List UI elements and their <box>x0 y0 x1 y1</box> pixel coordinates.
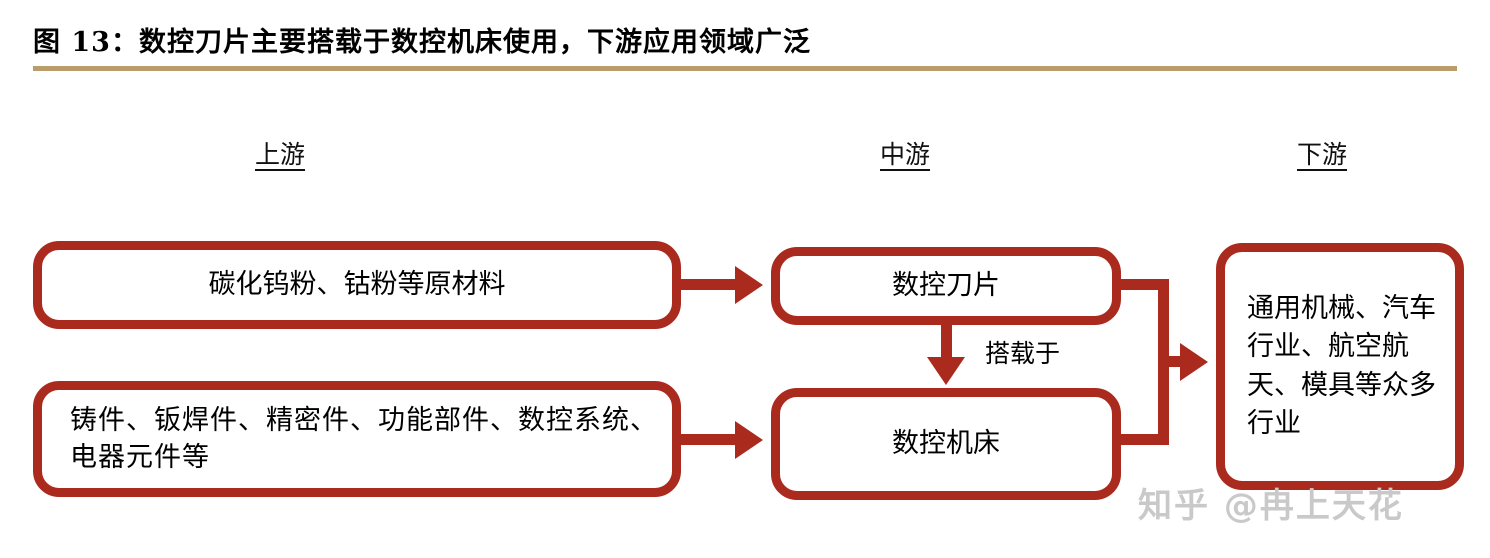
arrow-right-icon <box>735 266 763 304</box>
column-header-midstream: 中游 <box>880 135 930 171</box>
node-cnc-blade: 数控刀片 <box>771 247 1121 325</box>
connector-components-to-machine-line <box>681 434 739 445</box>
node-cnc-blade-label: 数控刀片 <box>780 267 1112 304</box>
connector-raw-to-blade-line <box>681 279 739 290</box>
node-downstream-industries: 通用机械、汽车行业、航空航天、模具等众多行业 <box>1216 243 1464 490</box>
node-raw-materials: 碳化钨粉、钴粉等原材料 <box>33 241 681 329</box>
node-cnc-machine-tool: 数控机床 <box>771 388 1121 500</box>
arrow-down-icon <box>927 357 965 385</box>
node-downstream-industries-label: 通用机械、汽车行业、航空航天、模具等众多行业 <box>1225 290 1455 443</box>
connector-blade-to-machine-label: 搭载于 <box>985 334 1060 370</box>
title-divider <box>33 66 1457 71</box>
node-components: 铸件、钣焊件、精密件、功能部件、数控系统、电器元件等 <box>33 381 681 497</box>
arrow-right-icon <box>735 421 763 459</box>
node-cnc-machine-tool-label: 数控机床 <box>780 425 1112 462</box>
arrow-right-icon <box>1180 343 1208 381</box>
column-header-downstream: 下游 <box>1297 135 1347 171</box>
node-raw-materials-label: 碳化钨粉、钴粉等原材料 <box>42 266 672 303</box>
column-header-upstream: 上游 <box>255 135 305 171</box>
node-components-label: 铸件、钣焊件、精密件、功能部件、数控系统、电器元件等 <box>42 402 672 477</box>
watermark: 知乎 @冉上天花 <box>1138 478 1404 527</box>
page-title: 图 13：数控刀片主要搭载于数控机床使用，下游应用领域广泛 <box>33 20 811 59</box>
